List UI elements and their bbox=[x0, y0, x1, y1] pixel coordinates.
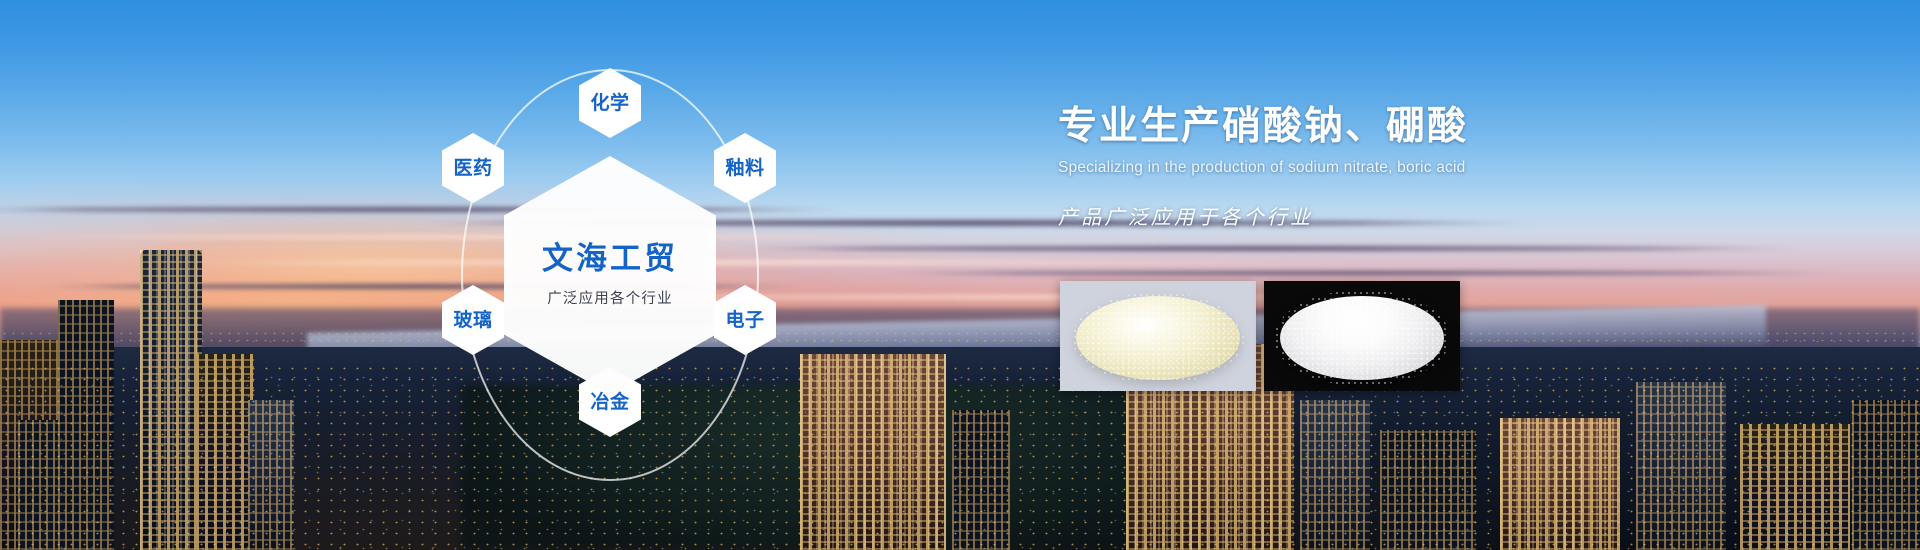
powder-edge-grains bbox=[1072, 292, 1244, 384]
brand-tagline: 广泛应用各个行业 bbox=[547, 287, 673, 308]
headline-block: 专业生产硝酸钠、硼酸 Specializing in the productio… bbox=[1058, 104, 1618, 230]
hex-label: 化学 bbox=[590, 94, 629, 113]
product-photo-sodium-nitrate[interactable] bbox=[1264, 281, 1460, 391]
hex-label: 釉料 bbox=[725, 159, 764, 178]
hex-label: 玻璃 bbox=[453, 311, 492, 330]
headline-subtitle-en: Specializing in the production of sodium… bbox=[1058, 159, 1618, 177]
hex-label: 电子 bbox=[725, 311, 764, 330]
powder-edge-grains bbox=[1274, 290, 1450, 386]
city-lights bbox=[0, 363, 1920, 550]
hex-label: 医药 bbox=[453, 159, 492, 178]
product-photo-boric-acid[interactable] bbox=[1060, 281, 1256, 391]
industry-hex-diagram: 化学 釉料 电子 冶金 玻璃 医药 文海工贸 广泛应用各个行业 bbox=[420, 20, 800, 530]
brand-name: 文海工贸 bbox=[542, 242, 678, 276]
headline-title: 专业生产硝酸钠、硼酸 bbox=[1058, 104, 1618, 150]
hex-label: 冶金 bbox=[590, 393, 629, 412]
cloud-streaks bbox=[0, 198, 1920, 308]
promotional-banner: 化学 釉料 电子 冶金 玻璃 医药 文海工贸 广泛应用各个行业 专业生产硝酸钠、… bbox=[0, 0, 1920, 550]
product-photo-gallery bbox=[1060, 281, 1460, 391]
headline-tagline: 产品广泛应用于各个行业 bbox=[1058, 201, 1618, 230]
